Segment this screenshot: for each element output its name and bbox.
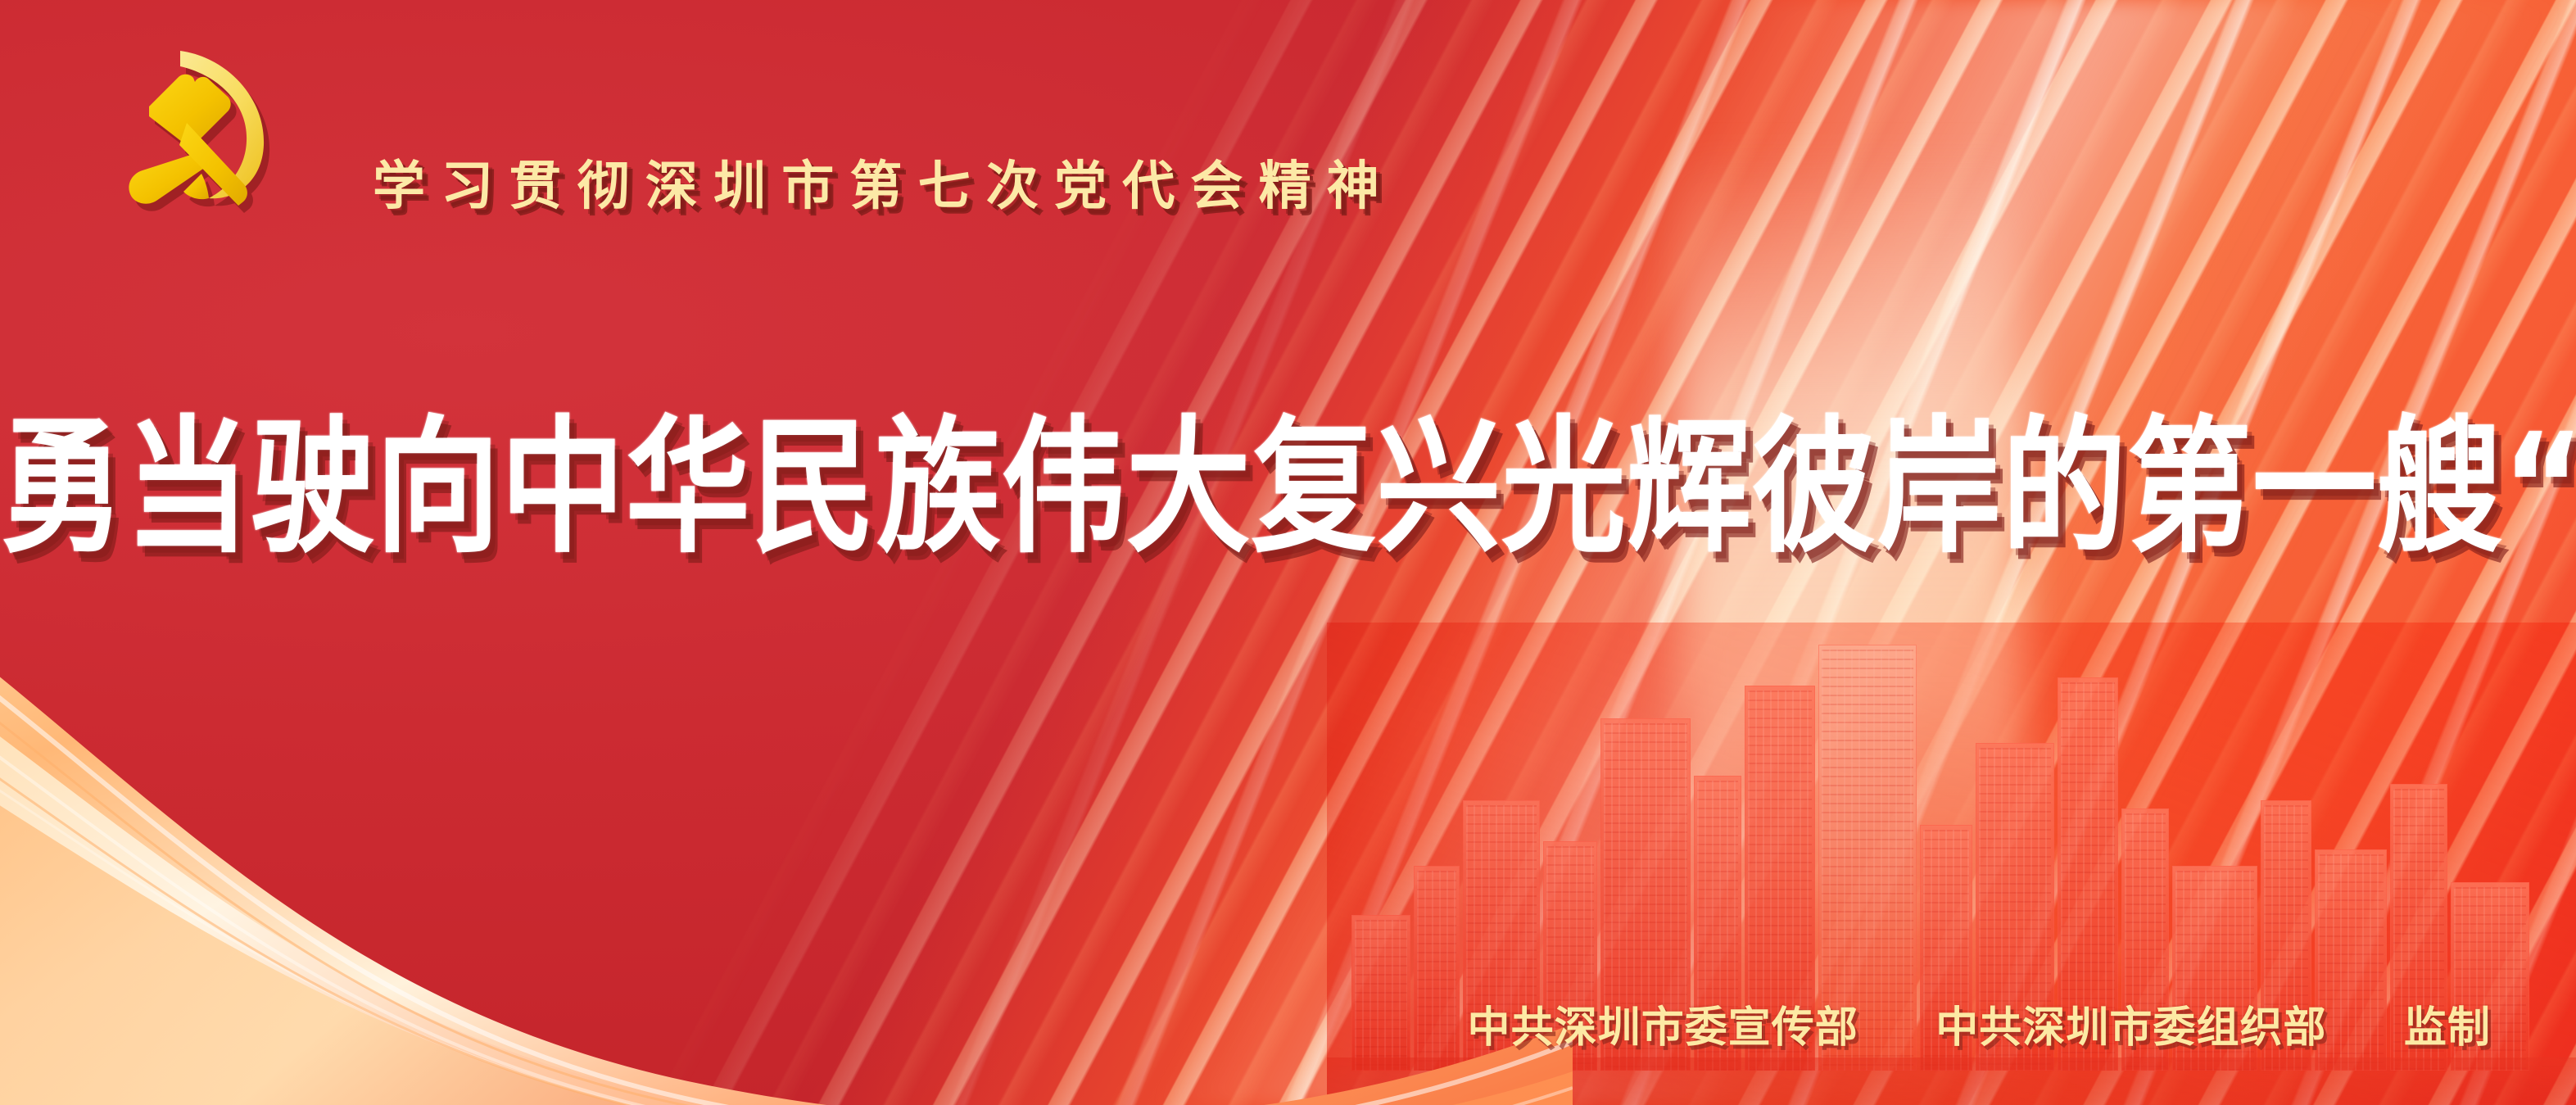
credit-org-propaganda: 中共深圳市委宣传部 [1468, 1003, 1858, 1053]
banner-headline: 勇当驶向中华民族伟大复兴光辉彼岸的第一艘“冲锋舟” [0, 410, 2576, 565]
party-congress-banner: 学习贯彻深圳市第七次党代会精神 勇当驶向中华民族伟大复兴光辉彼岸的第一艘“冲锋舟… [0, 0, 2576, 1105]
credit-org-organization: 中共深圳市委组织部 [1935, 1003, 2326, 1053]
hammer-and-sickle-icon [105, 38, 277, 206]
credits-line: 中共深圳市委宣传部 中共深圳市委组织部 监制 [0, 993, 2576, 1054]
credit-role: 监制 [2404, 1003, 2491, 1053]
banner-subtitle: 学习贯彻深圳市第七次党代会精神 [373, 144, 1395, 220]
